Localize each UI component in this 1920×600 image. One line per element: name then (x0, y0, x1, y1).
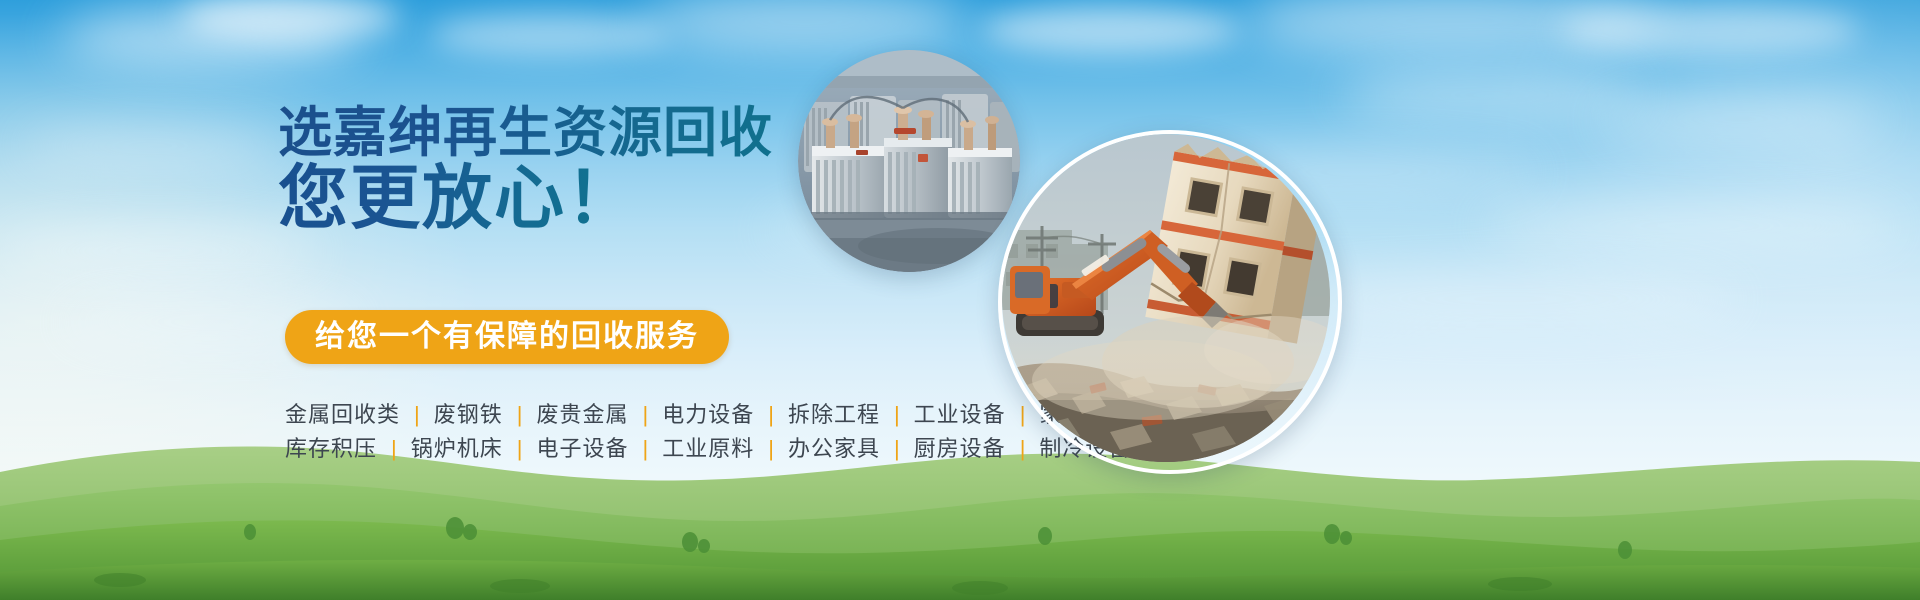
category-item[interactable]: 工业原料 (648, 438, 768, 460)
cloud-icon (1280, 272, 1740, 326)
cta-button[interactable]: 给您一个有保障的回收服务 (285, 310, 729, 364)
category-row-1: 金属回收类|废钢铁|废贵金属|电力设备|拆除工程|工业设备|家具电器 (285, 398, 1005, 432)
cloud-icon (1340, 70, 1640, 120)
cta-button-label: 给您一个有保障的回收服务 (315, 322, 699, 352)
category-item[interactable]: 电力设备 (648, 404, 768, 426)
category-item[interactable]: 金属回收类 (285, 404, 414, 426)
cloud-icon (1560, 4, 1860, 56)
category-item[interactable]: 工业设备 (900, 404, 1020, 426)
category-item[interactable]: 锅炉机床 (397, 438, 517, 460)
category-item[interactable]: 电子设备 (522, 438, 642, 460)
building-demolition-photo (998, 130, 1342, 474)
category-item[interactable]: 废贵金属 (522, 404, 642, 426)
category-item[interactable]: 拆除工程 (774, 404, 894, 426)
category-item[interactable]: 库存积压 (285, 438, 391, 460)
cloud-icon (1480, 200, 1900, 252)
category-row-2: 库存积压|锅炉机床|电子设备|工业原料|办公家具|厨房设备|制冷设备 (285, 432, 1005, 466)
category-item[interactable]: 厨房设备 (900, 438, 1020, 460)
cloud-icon (1600, 96, 1880, 142)
recycling-service-banner: 选嘉绅再生资源回收 您更放心！ 给您一个有保障的回收服务 金属回收类|废钢铁|废… (0, 0, 1920, 600)
headline-line-2: 您更放心！ (278, 160, 638, 236)
headline-line-1: 选嘉绅再生资源回收 (278, 104, 773, 162)
category-item[interactable]: 废钢铁 (420, 404, 517, 426)
category-item[interactable]: 办公家具 (774, 438, 894, 460)
service-category-lists: 金属回收类|废钢铁|废贵金属|电力设备|拆除工程|工业设备|家具电器 库存积压|… (285, 398, 1005, 466)
electrical-transformers-photo (798, 50, 1020, 272)
